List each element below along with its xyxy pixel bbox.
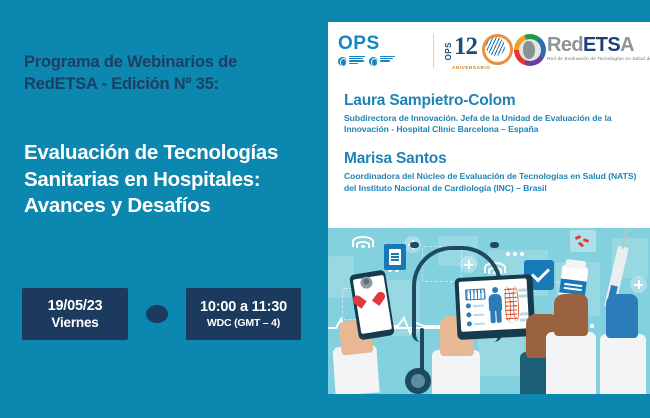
stethoscope-earpiece: [490, 242, 499, 248]
globe-icon: [369, 57, 378, 66]
ops-anniversary-logo: OPS 12 ANIVERSARIO: [444, 32, 508, 74]
ops-org1-lines: [349, 56, 365, 64]
logo-row: OPS: [328, 22, 650, 82]
ops-org2-lines: [380, 56, 395, 62]
wifi-icon: [352, 236, 374, 250]
redetsa-part3: A: [620, 34, 634, 56]
pill-icon: [578, 241, 585, 247]
left-panel: Programa de Webinarios de RedETSA - Edic…: [0, 0, 330, 418]
decor-square: [478, 336, 524, 376]
speaker-role: Subdirectora de Innovación. Jefa de la U…: [344, 113, 644, 137]
pill-icon: [575, 235, 582, 240]
speaker-role: Coordinadora del Núcleo de Evaluación de…: [344, 171, 644, 195]
globe-icon: [338, 57, 347, 66]
ops-logo: OPS: [338, 34, 426, 66]
speaker-name: Marisa Santos: [344, 150, 644, 169]
timezone-value: WDC (GMT – 4): [207, 317, 280, 330]
dna-icon: [504, 286, 518, 323]
plus-icon: [630, 276, 647, 293]
hand-holding-bottle: [554, 294, 588, 336]
bottle-label: [559, 278, 587, 295]
side-line: [519, 312, 528, 315]
side-line: [518, 288, 527, 291]
redetsa-globe-icon: [514, 34, 546, 66]
schedule-bar: 19/05/23 Viernes 10:00 a 11:30 WDC (GMT …: [22, 288, 301, 340]
sleeve: [546, 332, 596, 394]
tablet-device: [454, 274, 535, 340]
sleeve: [600, 334, 646, 394]
redetsa-logo: RedETSA Red de Evaluación de Tecnologías…: [514, 30, 646, 74]
speaker-item: Marisa Santos Coordinadora del Núcleo de…: [344, 150, 644, 194]
ops-acronym: OPS: [338, 34, 426, 53]
paho-mark: [338, 56, 365, 66]
illustration-floor: [328, 394, 650, 418]
chart-bars-icon: [465, 288, 486, 300]
patient-body-icon: [488, 287, 503, 324]
logo-divider: [433, 34, 434, 68]
time-value: 10:00 a 11:30: [200, 298, 287, 316]
list-dot: [466, 312, 471, 317]
speaker-item: Laura Sampietro-Colom Subdirectora de In…: [344, 92, 644, 136]
health-tech-illustration: [328, 228, 650, 418]
program-eyebrow: Programa de Webinarios de RedETSA - Edic…: [24, 52, 309, 96]
weekday-value: Viernes: [51, 315, 98, 332]
sleeve: [432, 350, 480, 394]
list-line: [473, 305, 484, 308]
date-value: 19/05/23: [48, 297, 103, 315]
webinar-poster: Programa de Webinarios de RedETSA - Edic…: [0, 0, 650, 418]
speaker-name: Laura Sampietro-Colom: [344, 92, 644, 111]
list-dot: [466, 303, 471, 308]
side-line: [518, 294, 527, 297]
pill-icon: [583, 238, 590, 243]
redetsa-part1: Red: [547, 34, 583, 56]
speakers-list: Laura Sampietro-Colom Subdirectora de In…: [344, 92, 644, 209]
gloved-hand-holding-syringe: [606, 294, 638, 338]
redetsa-part2: ETS: [583, 34, 620, 56]
anniversary-ops-label: OPS: [444, 42, 453, 60]
separator-dot-icon: [146, 305, 168, 323]
content-card: OPS: [328, 22, 650, 418]
stethoscope-earpiece: [410, 242, 419, 248]
list-dot: [467, 321, 472, 326]
stethoscope-bell-icon: [405, 368, 431, 394]
page-title: Evaluación de Tecnologías Sanitarias en …: [24, 140, 319, 220]
dots-icon: [506, 252, 524, 256]
date-chip: 19/05/23 Viernes: [22, 288, 128, 340]
list-line: [473, 314, 484, 317]
heart-icon: [359, 293, 378, 310]
ops-organizations: [338, 56, 426, 66]
anniversary-number: 12: [454, 33, 477, 61]
who-mark: [369, 56, 395, 66]
anniversary-map-icon: [486, 37, 505, 56]
list-line: [474, 323, 485, 326]
tablet-screen: [459, 278, 530, 331]
redetsa-wordmark: RedETSA: [547, 35, 634, 55]
bottle-cap: [565, 259, 586, 269]
time-chip: 10:00 a 11:30 WDC (GMT – 4): [186, 288, 301, 340]
anniversary-tagline: ANIVERSARIO: [452, 65, 491, 70]
redetsa-tagline: Red de Evaluación de Tecnologías en Salu…: [547, 56, 650, 61]
pill-box: [570, 230, 596, 252]
document-icon: [384, 244, 406, 270]
